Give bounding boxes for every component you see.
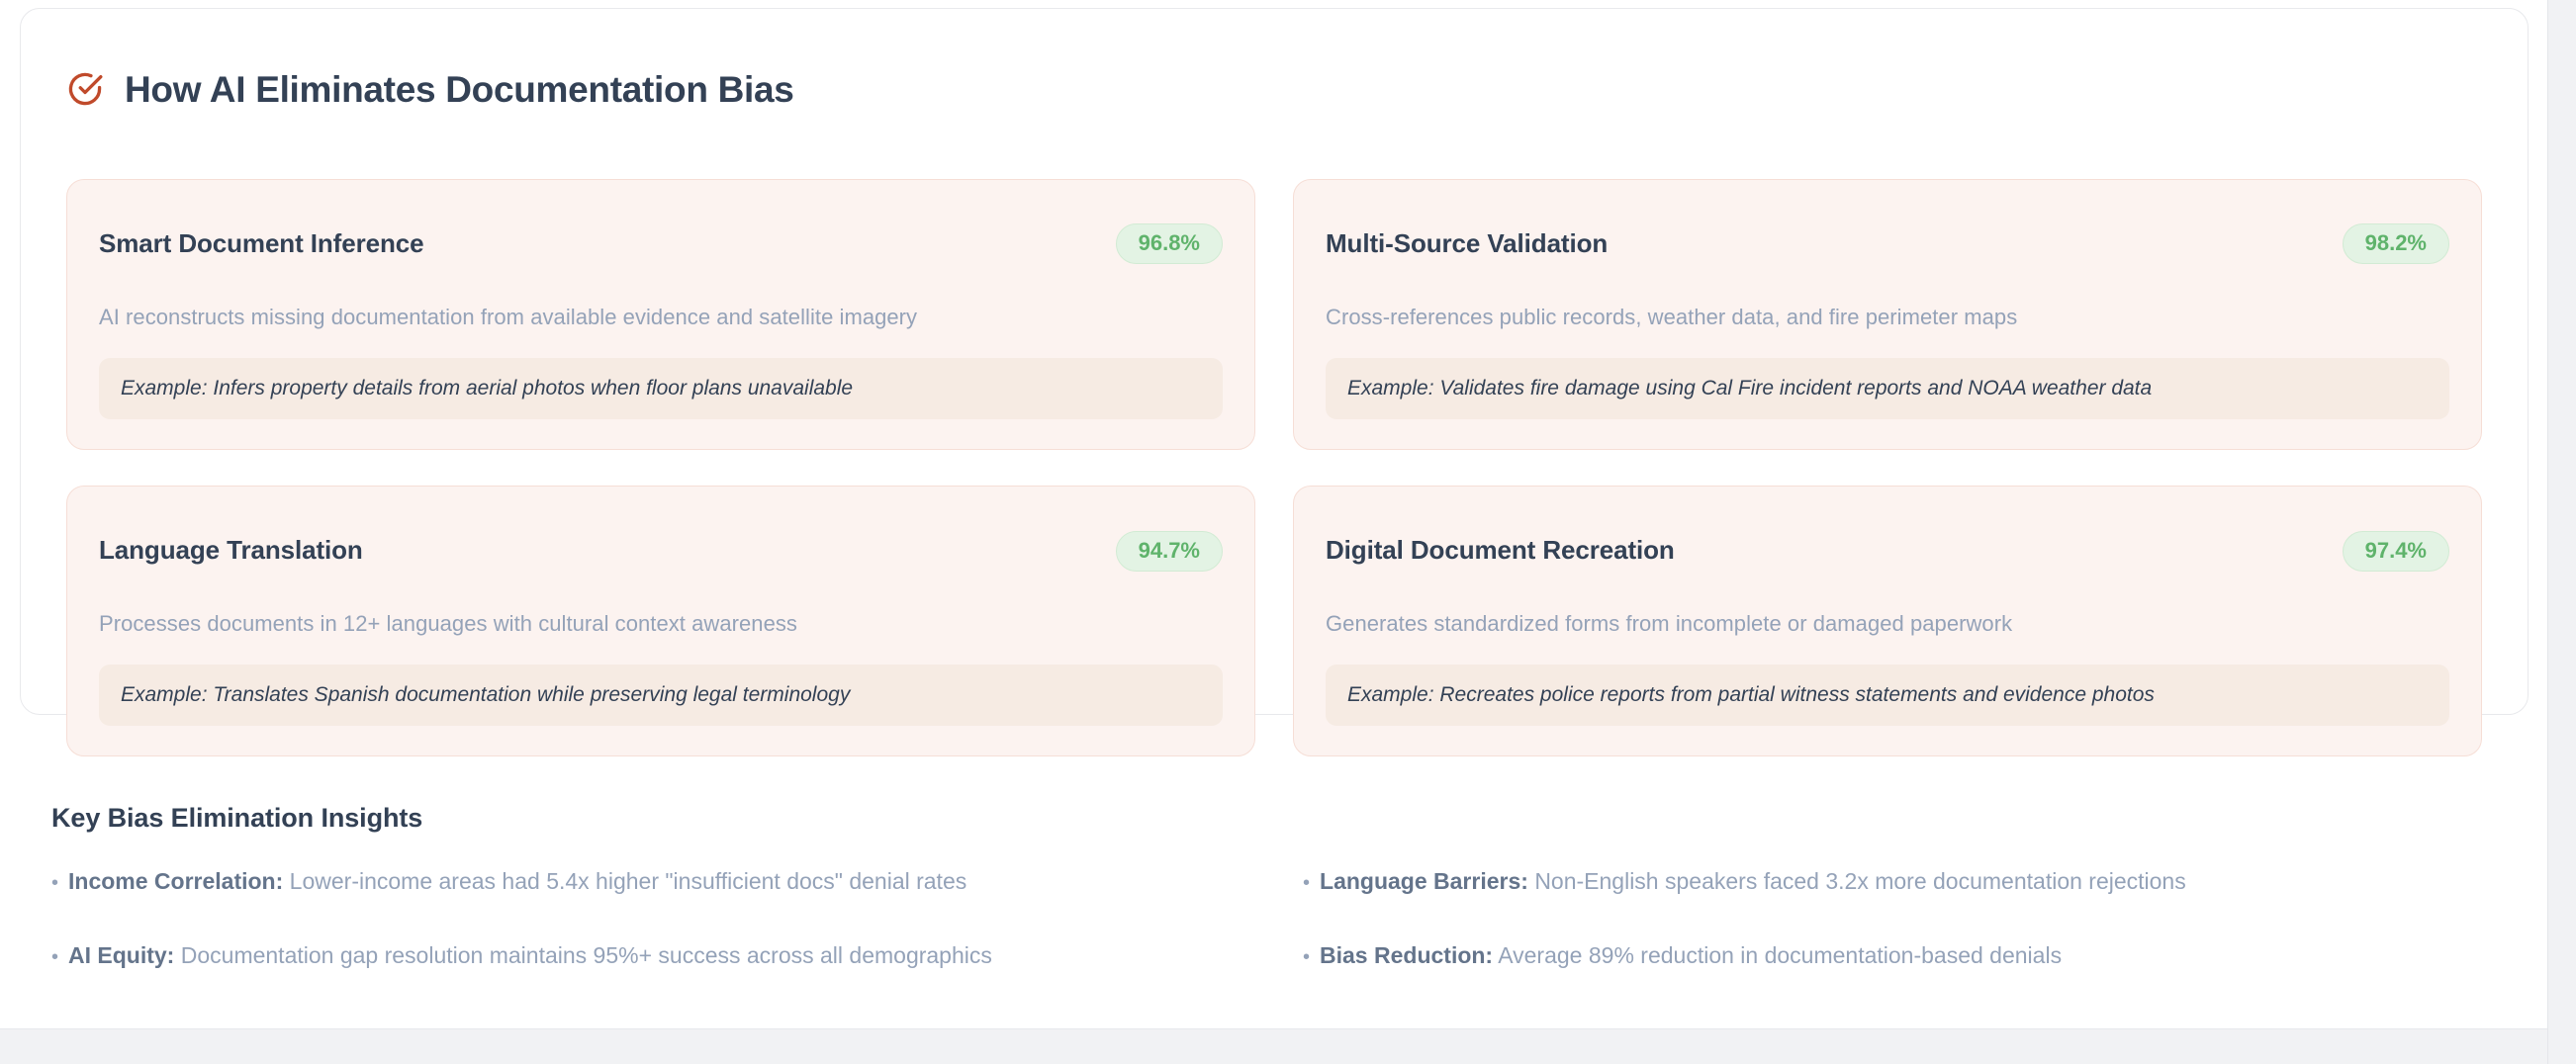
page-content: How AI Eliminates Documentation Bias Sma… [0,0,2576,1064]
insight-label: AI Equity: [68,942,174,968]
insight-text: Average 89% reduction in documentation-b… [1498,942,2062,968]
card-example: Example: Infers property details from ae… [99,358,1223,419]
bullet-icon: • [51,945,58,970]
feature-card-grid: Smart Document Inference 96.8% AI recons… [21,133,2528,757]
card-description: Cross-references public records, weather… [1326,303,2449,332]
page-title: How AI Eliminates Documentation Bias [125,71,794,108]
feature-card-digital-document-recreation[interactable]: Digital Document Recreation 97.4% Genera… [1293,486,2482,756]
card-header: Digital Document Recreation 97.4% [1326,514,2449,587]
insight-text: Documentation gap resolution maintains 9… [181,942,992,968]
vertical-scrollbar-gutter[interactable] [2548,0,2576,1064]
accuracy-badge: 98.2% [2343,223,2449,264]
card-header: Language Translation 94.7% [99,514,1223,587]
card-description: Processes documents in 12+ languages wit… [99,609,1223,639]
card-header: Multi-Source Validation 98.2% [1326,208,2449,281]
card-description: AI reconstructs missing documentation fr… [99,303,1223,332]
insight-text: Non-English speakers faced 3.2x more doc… [1534,868,2185,894]
insights-heading: Key Bias Elimination Insights [0,803,2576,834]
feature-card-smart-document-inference[interactable]: Smart Document Inference 96.8% AI recons… [66,179,1255,450]
card-example: Example: Validates fire damage using Cal… [1326,358,2449,419]
insight-label: Income Correlation: [68,868,283,894]
bullet-icon: • [51,871,58,896]
card-example: Example: Recreates police reports from p… [1326,665,2449,726]
bullet-icon: • [1303,871,1310,896]
check-circle-icon [66,70,104,108]
card-example: Example: Translates Spanish documentatio… [99,665,1223,726]
card-title: Multi-Source Validation [1326,228,1608,259]
accuracy-badge: 96.8% [1116,223,1223,264]
card-title: Smart Document Inference [99,228,423,259]
bullet-icon: • [1303,945,1310,970]
card-title: Digital Document Recreation [1326,535,1675,566]
insight-label: Bias Reduction: [1320,942,1493,968]
page-root: How AI Eliminates Documentation Bias Sma… [0,0,2576,1064]
feature-card-language-translation[interactable]: Language Translation 94.7% Processes doc… [66,486,1255,756]
bottom-strip [0,1029,2576,1064]
card-title: Language Translation [99,535,363,566]
accuracy-badge: 94.7% [1116,531,1223,572]
insight-item-income-correlation: • Income Correlation: Lower-income areas… [51,867,1273,896]
key-insights-section: Key Bias Elimination Insights • Income C… [0,781,2576,970]
card-description: Generates standardized forms from incomp… [1326,609,2449,639]
accuracy-badge: 97.4% [2343,531,2449,572]
panel-header: How AI Eliminates Documentation Bias [21,9,2528,133]
insight-item-language-barriers: • Language Barriers: Non-English speaker… [1303,867,2525,896]
insight-label: Language Barriers: [1320,868,1528,894]
insight-text: Lower-income areas had 5.4x higher "insu… [290,868,967,894]
insight-item-ai-equity: • AI Equity: Documentation gap resolutio… [51,941,1273,970]
insight-item-bias-reduction: • Bias Reduction: Average 89% reduction … [1303,941,2525,970]
feature-card-multi-source-validation[interactable]: Multi-Source Validation 98.2% Cross-refe… [1293,179,2482,450]
insights-grid: • Income Correlation: Lower-income areas… [0,867,2576,970]
card-header: Smart Document Inference 96.8% [99,208,1223,281]
documentation-bias-panel: How AI Eliminates Documentation Bias Sma… [20,8,2529,715]
